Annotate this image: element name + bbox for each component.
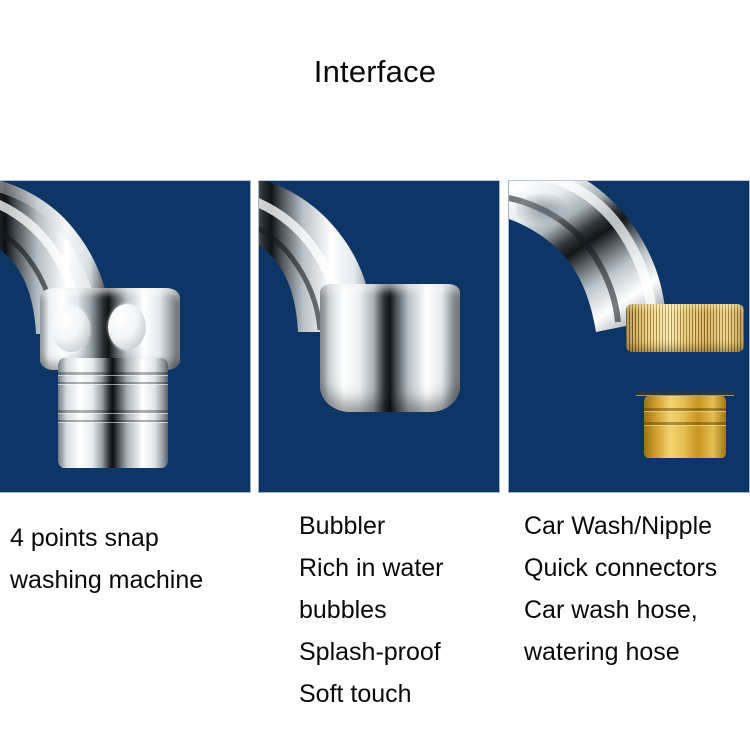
bubbler-aerator-head [320,284,460,412]
caption-line: washing machine [10,559,203,601]
snap-barrel [58,358,168,468]
product-image-panel-connector [508,180,750,493]
caption-snap: 4 points snap washing machine [10,517,203,601]
caption-line: Car wash hose, [524,589,717,631]
product-infographic: Interface [0,0,750,750]
caption-line: Car Wash/Nipple [524,505,717,547]
snap-button-left [52,306,90,352]
product-image-panel-bubbler [258,180,500,493]
brass-knurled-ring [626,304,744,352]
page-title: Interface [0,52,750,92]
product-image-panel-snap [0,180,251,493]
brass-connector-shoulder [636,348,734,404]
caption-connector: Car Wash/Nipple Quick connectors Car was… [524,505,717,673]
brass-connector-barrel [644,396,726,458]
chrome-spout-illustration [508,180,726,360]
caption-line: Soft touch [299,673,444,715]
caption-line: Splash-proof [299,631,444,673]
brand-logo-emboss [516,194,568,224]
caption-line: Rich in water [299,547,444,589]
panel-border [258,180,500,493]
caption-bubbler: Bubbler Rich in water bubbles Splash-pro… [299,505,444,715]
chrome-spout-illustration [0,180,194,381]
caption-line: 4 points snap [10,517,203,559]
panel-border [508,180,750,493]
snap-button-right [108,304,146,350]
caption-line: Quick connectors [524,547,717,589]
caption-line: Bubbler [299,505,444,547]
chrome-spout-illustration [258,180,450,367]
panel-strip [0,180,750,493]
caption-line: watering hose [524,631,717,673]
caption-line: bubbles [299,589,444,631]
